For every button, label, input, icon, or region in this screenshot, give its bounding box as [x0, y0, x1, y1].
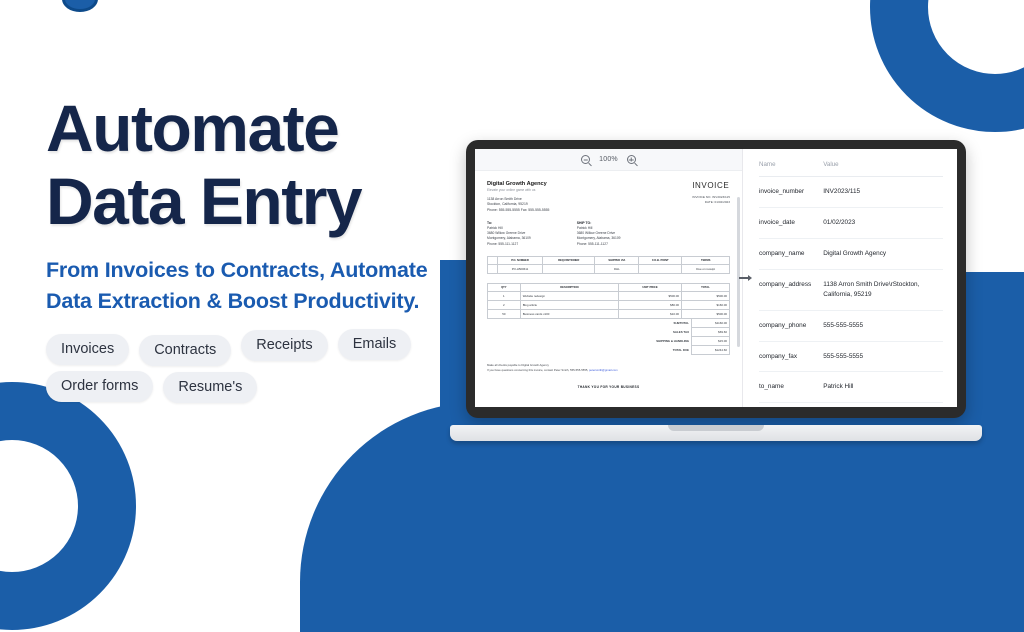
ship-to-address: Patrick Hill 3680 Willow Greene Drive Mo… — [577, 226, 621, 247]
table-row: 50 Business cards x100 $10.00 $500.00 — [488, 309, 730, 318]
invoice-footer-note: Make all checks payable to Digital Growt… — [487, 363, 730, 373]
column-header-name: Name — [759, 161, 811, 177]
zoom-level-label: 100% — [599, 156, 618, 163]
field-value[interactable]: 3680 Willow Greene — [811, 403, 943, 407]
tag-pill-contracts[interactable]: Contracts — [139, 335, 231, 366]
col-po-number: P.O. NUMBER — [497, 256, 542, 264]
table-row: TOTAL DUE $1244.60 — [487, 346, 730, 355]
invoice-note-prefix: If you have questions concerning this in… — [487, 368, 589, 372]
table-row: SALES TAX $69.60 — [487, 328, 730, 337]
tag-pill-order-forms[interactable]: Order forms — [46, 371, 153, 402]
ship-to-line-4: Phone: 555-111-1127 — [577, 242, 621, 247]
logo-mark — [62, 0, 98, 12]
field-value[interactable]: Patrick Hill — [811, 372, 943, 403]
top-right-blue-ring — [870, 0, 1024, 132]
col-shipped-via: SHIPPED VIA — [595, 256, 639, 264]
tag-row-1: Invoices Contracts Receipts Emails — [46, 334, 516, 366]
invoice-line-items-table: QTY DESCRIPTION UNIT PRICE TOTAL 1 Websi… — [487, 283, 730, 319]
table-row: company_fax 555-555-5555 — [759, 341, 943, 372]
table-row: invoice_date 01/02/2023 — [759, 207, 943, 238]
table-row: P.O. NUMBER REQUISITIONER SHIPPED VIA F.… — [488, 256, 730, 264]
field-value[interactable]: INV2023/115 — [811, 177, 943, 208]
col-total: TOTAL — [681, 283, 729, 291]
tag-pill-receipts[interactable]: Receipts — [241, 330, 327, 361]
invoice-company-name: Digital Growth Agency — [487, 181, 549, 187]
tag-pill-group: Invoices Contracts Receipts Emails Order… — [46, 334, 516, 403]
tag-pill-invoices[interactable]: Invoices — [46, 334, 129, 365]
document-scrollbar[interactable] — [737, 197, 740, 347]
col-terms: TERMS — [682, 256, 730, 264]
table-row: company_phone 555-555-5555 — [759, 310, 943, 341]
invoice-company-block: Digital Growth Agency Elevate your onlin… — [487, 181, 549, 213]
field-value[interactable]: Digital Growth Agency — [811, 238, 943, 269]
col-qty: QTY — [488, 283, 521, 291]
ship-to-line-3: Montgomery, Alabama, 36109 — [577, 236, 621, 241]
document-zoom-toolbar: 100% — [475, 149, 742, 171]
arrow-right-icon — [739, 275, 752, 281]
col-unit-price: UNIT PRICE — [619, 283, 682, 291]
field-name: company_fax — [759, 341, 811, 372]
invoice-contact-email-link[interactable]: petersmith@gmail.com — [589, 368, 618, 372]
page-title: Automate Data Entry — [46, 96, 516, 233]
hero-copy: Automate Data Entry From Invoices to Con… — [46, 96, 516, 403]
laptop-lid: 100% Digital Growth Agency Elevate your … — [466, 140, 966, 418]
invoice-ship-to: SHIP TO: Patrick Hill 3680 Willow Greene… — [577, 221, 621, 247]
document-preview-pane: 100% Digital Growth Agency Elevate your … — [475, 149, 743, 407]
table-row: invoice_number INV2023/115 — [759, 177, 943, 208]
tag-row-2: Order forms Resume's — [46, 371, 516, 403]
field-name — [759, 403, 811, 407]
laptop-base — [450, 425, 982, 441]
col-requisitioner: REQUISITIONER — [543, 256, 595, 264]
invoice-title-block: INVOICE INVOICE NO. INV2023/115 DATE: 01… — [692, 181, 730, 205]
tag-pill-emails[interactable]: Emails — [338, 329, 412, 360]
headline-line-1: Automate — [46, 91, 338, 165]
invoice-header: Digital Growth Agency Elevate your onlin… — [487, 181, 730, 213]
table-row: PO-LB00611 DHL Due on receipt — [488, 264, 730, 273]
extraction-table: Name Value invoice_number INV2023/115 in… — [759, 161, 943, 407]
field-value[interactable]: 1138 Arron Smith Drive\rStockton, Califo… — [811, 269, 943, 310]
col-description: DESCRIPTION — [520, 283, 618, 291]
invoice-document: Digital Growth Agency Elevate your onlin… — [487, 181, 730, 389]
table-row: QTY DESCRIPTION UNIT PRICE TOTAL — [488, 283, 730, 291]
arrow-head — [748, 275, 752, 281]
table-header-row: Name Value — [759, 161, 943, 177]
extraction-results-pane: Name Value invoice_number INV2023/115 in… — [743, 149, 957, 407]
subheadline-line-2: Data Extraction & Boost Productivity. — [46, 286, 516, 317]
invoice-company-tagline: Elevate your online game with us — [487, 188, 549, 192]
invoice-totals-table: SUBTOTAL $1160.00 SALES TAX $69.60 SHIPP… — [487, 318, 730, 355]
field-value[interactable]: 555-555-5555 — [811, 341, 943, 372]
zoom-out-icon[interactable] — [581, 155, 590, 164]
headline-line-2: Data Entry — [46, 169, 516, 234]
bottom-left-blue-ring — [0, 382, 136, 630]
invoice-thanks-line: THANK YOU FOR YOUR BUSINESS — [487, 385, 730, 389]
invoice-company-phone: Phone: 555-555-5555 Fax: 555-555-5555 — [487, 208, 549, 213]
bill-to-line-4: Phone: 555-111-1127 — [487, 242, 531, 247]
document-scroll-area[interactable]: Digital Growth Agency Elevate your onlin… — [475, 171, 742, 407]
arrow-shaft — [739, 277, 748, 279]
zoom-in-icon[interactable] — [627, 155, 636, 164]
invoice-bill-to: To: Patrick Hill 3680 Willow Greene Driv… — [487, 221, 531, 247]
subheadline: From Invoices to Contracts, Automate Dat… — [46, 255, 516, 316]
table-row: 3680 Willow Greene — [759, 403, 943, 407]
ship-to-label: SHIP TO: — [577, 221, 621, 225]
invoice-meta: INVOICE NO. INV2023/115 DATE: 01/02/2023 — [692, 195, 730, 205]
field-value[interactable]: 01/02/2023 — [811, 207, 943, 238]
field-name: to_name — [759, 372, 811, 403]
bill-to-address: Patrick Hill 3680 Willow Greene Drive Mo… — [487, 226, 531, 247]
invoice-note-line-2: If you have questions concerning this in… — [487, 368, 730, 373]
invoice-order-table: P.O. NUMBER REQUISITIONER SHIPPED VIA F.… — [487, 256, 730, 274]
invoice-title: INVOICE — [692, 181, 730, 190]
invoice-date-line: DATE: 01/02/2023 — [692, 200, 730, 205]
field-name: invoice_number — [759, 177, 811, 208]
table-row: SHIPPING & HANDLING $15.00 — [487, 337, 730, 346]
field-name: invoice_date — [759, 207, 811, 238]
field-name: company_address — [759, 269, 811, 310]
col-blank — [488, 256, 498, 264]
app-screen: 100% Digital Growth Agency Elevate your … — [475, 149, 957, 407]
col-fob-point: F.O.B. POINT — [639, 256, 682, 264]
bill-to-line-3: Montgomery, Alabama, 36109 — [487, 236, 531, 241]
table-row: company_address 1138 Arron Smith Drive\r… — [759, 269, 943, 310]
table-row: SUBTOTAL $1160.00 — [487, 319, 730, 328]
bill-to-label: To: — [487, 221, 531, 225]
laptop-notch — [668, 425, 764, 431]
field-value[interactable]: 555-555-5555 — [811, 310, 943, 341]
tag-pill-resumes[interactable]: Resume's — [163, 372, 257, 403]
field-name: company_phone — [759, 310, 811, 341]
laptop-mockup: 100% Digital Growth Agency Elevate your … — [466, 140, 966, 418]
table-row: company_name Digital Growth Agency — [759, 238, 943, 269]
invoice-parties: To: Patrick Hill 3680 Willow Greene Driv… — [487, 221, 730, 247]
field-name: company_name — [759, 238, 811, 269]
table-row: to_name Patrick Hill — [759, 372, 943, 403]
table-row: 2 Blog article $80.00 $160.00 — [488, 300, 730, 309]
invoice-company-address: 1138 Arron Smith Drive Stockton, Califor… — [487, 197, 549, 213]
column-header-value: Value — [811, 161, 943, 177]
table-row: 1 Website redesign $500.00 $500.00 — [488, 291, 730, 300]
subheadline-line-1: From Invoices to Contracts, Automate — [46, 255, 516, 286]
